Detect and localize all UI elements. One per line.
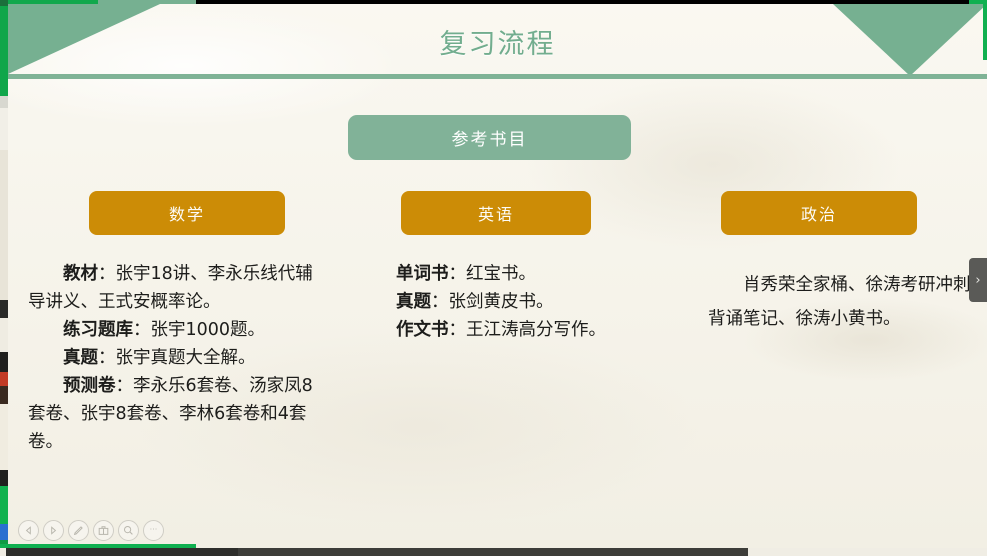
more-options-icon[interactable]: ··· (143, 520, 164, 541)
chevron-right-icon: › (975, 273, 980, 288)
next-page-icon[interactable] (43, 520, 64, 541)
horizontal-scrollbar-region[interactable] (238, 548, 748, 556)
more-options-glyph: ··· (150, 526, 158, 534)
subject-pill-politics-label: 政治 (801, 201, 837, 225)
horizontal-scrollbar-thumb[interactable] (6, 548, 238, 556)
politics-book-list: 肖秀荣全家桶、徐涛考研冲刺背诵笔记、徐涛小黄书。 (708, 268, 973, 336)
zoom-icon[interactable] (118, 520, 139, 541)
subject-pill-english[interactable]: 英语 (401, 191, 591, 235)
subject-pill-math-label: 数学 (169, 201, 205, 225)
page-title: 复习流程 (8, 22, 987, 61)
section-heading-reference-books[interactable]: 参考书目 (348, 115, 631, 160)
math-book-list: 教材：张宇18讲、李永乐线代辅导讲义、王式安概率论。 练习题库：张宇1000题。… (28, 260, 328, 456)
viewer-toolbar: ··· (18, 520, 164, 540)
previous-page-icon[interactable] (18, 520, 39, 541)
header-bottom-rule (8, 74, 987, 79)
right-accent-strip (983, 4, 987, 60)
subject-pill-english-label: 英语 (478, 201, 514, 225)
window-top-edge (196, 0, 987, 4)
side-panel-expand-button[interactable]: › (969, 258, 987, 302)
slide-header: 复习流程 (8, 0, 987, 80)
english-book-list: 单词书：红宝书。 真题：张剑黄皮书。 作文书：王江涛高分写作。 (396, 260, 676, 344)
toolbox-icon[interactable] (93, 520, 114, 541)
screen: 复习流程 参考书目 数学 英语 政治 教材：张宇18讲、李永乐线代辅导讲义、王式… (0, 0, 987, 556)
slide-canvas: 复习流程 参考书目 数学 英语 政治 教材：张宇18讲、李永乐线代辅导讲义、王式… (8, 0, 987, 548)
subject-pill-math[interactable]: 数学 (89, 191, 285, 235)
background-app-sliver[interactable] (0, 0, 8, 556)
subject-pill-politics[interactable]: 政治 (721, 191, 917, 235)
pen-icon[interactable] (68, 520, 89, 541)
top-accent-left (8, 0, 98, 4)
section-heading-label: 参考书目 (452, 125, 528, 150)
